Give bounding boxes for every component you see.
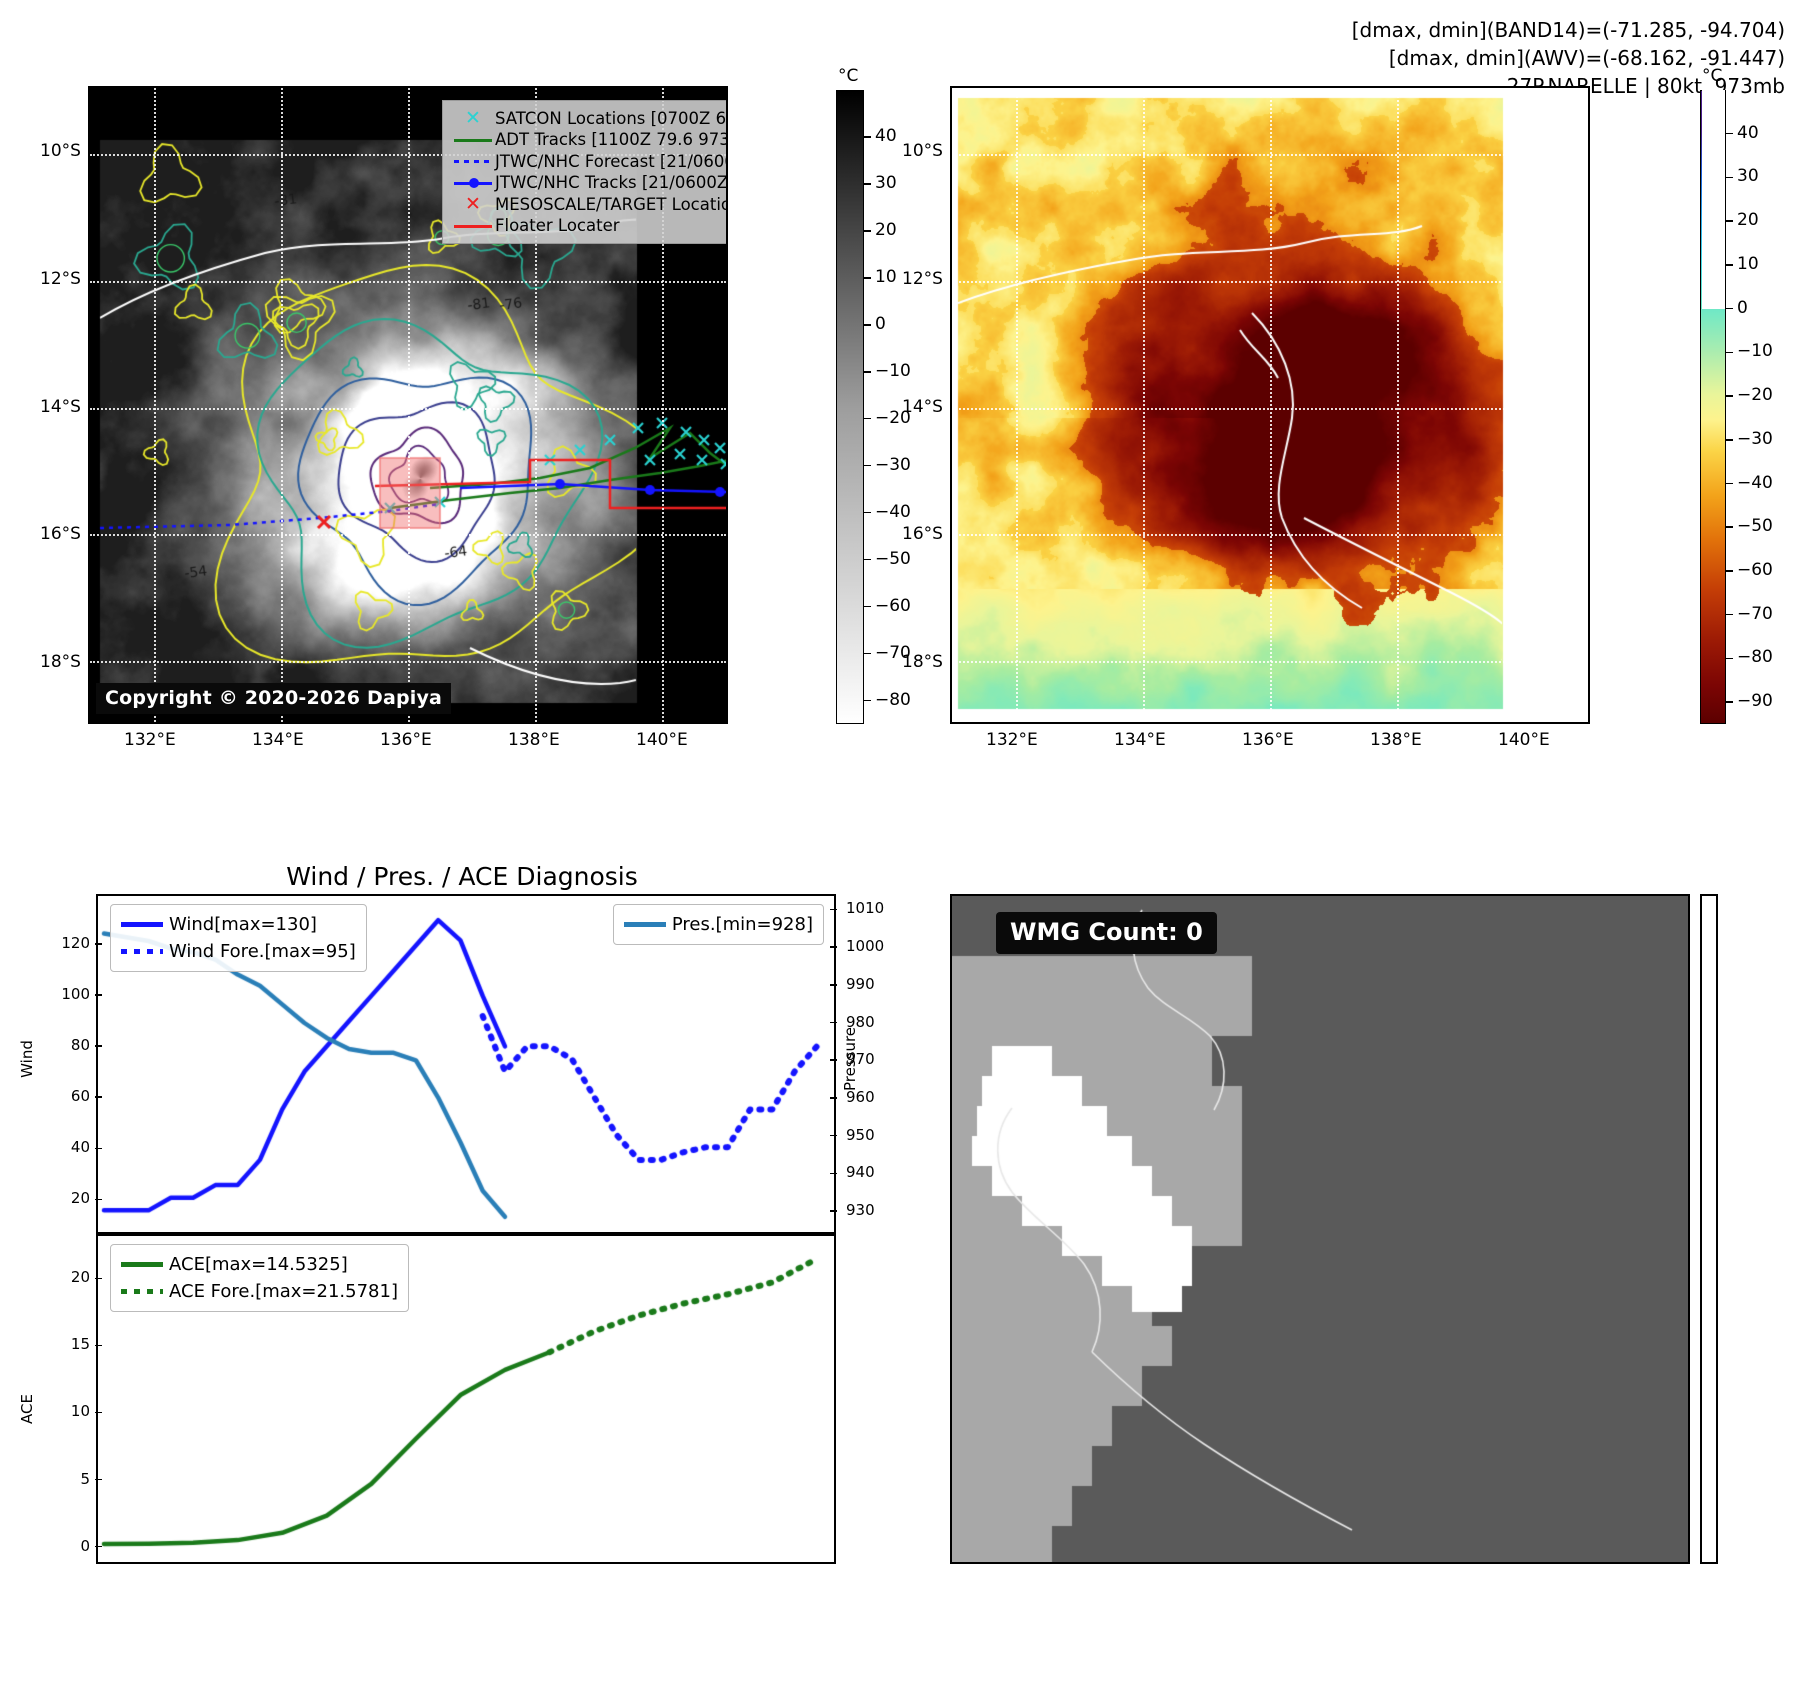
gridline-vertical — [1143, 88, 1145, 722]
enhanced-ir-color-panel[interactable] — [950, 86, 1590, 724]
gridline-vertical — [1397, 88, 1399, 722]
wmg-canvas — [952, 896, 1688, 1562]
dotted-line-icon — [121, 949, 169, 954]
colorbar-tick-label: −60 — [1737, 560, 1773, 580]
colorbar-tick-label: 20 — [875, 220, 897, 240]
chart-axis-tick-label: 5 — [50, 1470, 90, 1488]
chart-legend-row: Wind[max=130] — [121, 911, 356, 938]
axis-tick-label: 132°E — [124, 730, 176, 750]
chart-axis-tickmark — [95, 1199, 102, 1201]
chart-axis-tick-label: 60 — [50, 1087, 90, 1105]
dmax-band14-text: [dmax, dmin](BAND14)=(-71.285, -94.704) — [1352, 16, 1785, 44]
solid-line-icon — [121, 1262, 169, 1267]
ace-chart[interactable]: ACE[max=14.5325]ACE Fore.[max=21.5781] — [96, 1234, 836, 1564]
gridline-horizontal — [952, 661, 1588, 663]
solid-line-icon — [451, 130, 495, 152]
chart-axis-tickmark — [95, 994, 102, 996]
ir-legend-label: JTWC/NHC Forecast [21/0600Z] — [495, 154, 728, 171]
solid-line-icon — [121, 922, 169, 927]
colorbar-tick-label: −90 — [1737, 691, 1773, 711]
ir-legend: ✕SATCON Locations [0700Z 60 982]ADT Trac… — [442, 100, 728, 244]
x-marker-icon: ✕ — [451, 194, 495, 216]
gridline-vertical — [408, 88, 410, 722]
dotted-line-icon — [121, 1289, 169, 1294]
ir-legend-row: Floater Locater — [451, 216, 719, 238]
colorbar-tick-label: −10 — [875, 361, 911, 381]
colorbar-tickmark — [864, 277, 871, 279]
gridline-vertical — [1524, 88, 1526, 722]
axis-tick-label: 18°S — [40, 652, 81, 672]
ir-legend-row: ✕MESOSCALE/TARGET Location — [451, 194, 719, 216]
chart-axis-tickmark — [95, 1345, 102, 1347]
colorbar-tickmark — [864, 324, 871, 326]
colorbar-tick-label: −50 — [1737, 516, 1773, 536]
chart-axis-tick-label: 100 — [50, 985, 90, 1003]
colorbar-tickmark — [1726, 439, 1733, 441]
chart-legend-row: Wind Fore.[max=95] — [121, 938, 356, 965]
chart-axis-tickmark — [95, 943, 102, 945]
chart-axis-tickmark — [830, 984, 837, 986]
diagnosis-title: Wind / Pres. / ACE Diagnosis — [88, 862, 836, 891]
chart-axis-tickmark — [830, 1097, 837, 1099]
chart-axis-tick-label: 10 — [50, 1402, 90, 1420]
colorbar-tick-label: 10 — [1737, 254, 1759, 274]
colorbar-tick-label: 30 — [875, 173, 897, 193]
axis-tick-label: 134°E — [1114, 730, 1166, 750]
gridline-horizontal — [90, 281, 726, 283]
axis-tick-label: 10°S — [40, 141, 81, 161]
colorbar-tickmark — [1726, 177, 1733, 179]
chart-legend-label: ACE[max=14.5325] — [169, 1256, 348, 1274]
gridline-vertical — [154, 88, 156, 722]
chart-legend-row: ACE Fore.[max=21.5781] — [121, 1278, 398, 1305]
copyright-badge: Copyright © 2020-2026 Dapiya — [96, 683, 451, 714]
colorbar-tick-label: −80 — [875, 690, 911, 710]
solid-line-icon — [624, 922, 672, 927]
gridline-horizontal — [952, 281, 1588, 283]
axis-tick-label: 140°E — [636, 730, 688, 750]
chart-axis-tick-label: 120 — [50, 934, 90, 952]
chart-axis-tick-label: 80 — [50, 1036, 90, 1054]
ace-chart-legend: ACE[max=14.5325]ACE Fore.[max=21.5781] — [110, 1244, 409, 1312]
axis-tick-label: 136°E — [1242, 730, 1294, 750]
ir-colorbar-gradient — [836, 90, 864, 724]
ir-legend-row: ✕SATCON Locations [0700Z 60 982] — [451, 108, 719, 130]
colorbar-tickmark — [864, 371, 871, 373]
wv-colorbar-unit: °C — [1702, 66, 1722, 86]
chart-axis-tickmark — [95, 1045, 102, 1047]
colorbar-tick-label: 0 — [875, 314, 886, 334]
x-marker-icon: ✕ — [451, 108, 495, 130]
chart-axis-tickmark — [830, 1173, 837, 1175]
colorbar-tickmark — [864, 700, 871, 702]
colorbar-tick-label: 20 — [1737, 210, 1759, 230]
ir-legend-label: MESOSCALE/TARGET Location — [495, 197, 728, 214]
chart-axis-tick-label: 940 — [846, 1163, 875, 1181]
colorbar-tickmark — [864, 512, 871, 514]
colorbar-tickmark — [1726, 483, 1733, 485]
chart-axis-tick-label: 1010 — [846, 899, 884, 917]
wv-colorbar-white-segment — [1702, 90, 1725, 309]
colorbar-tick-label: 0 — [1737, 298, 1748, 318]
colorbar-tickmark — [864, 465, 871, 467]
gridline-vertical — [281, 88, 283, 722]
colorbar-tickmark — [1726, 308, 1733, 310]
colorbar-tick-label: −70 — [1737, 604, 1773, 624]
wind-axis-label: Wind — [18, 1040, 36, 1078]
colorbar-tick-label: −60 — [875, 596, 911, 616]
chart-axis-tickmark — [830, 1022, 837, 1024]
colorbar-tick-label: 40 — [1737, 123, 1759, 143]
chart-legend-label: Wind Fore.[max=95] — [169, 943, 356, 961]
wmg-colorbar — [1700, 894, 1718, 1564]
chart-legend-label: Pres.[min=928] — [672, 916, 813, 934]
colorbar-tick-label: −40 — [1737, 473, 1773, 493]
solid-line-icon — [451, 216, 495, 238]
axis-tick-label: 14°S — [902, 397, 943, 417]
colorbar-tickmark — [864, 559, 871, 561]
gridline-horizontal — [90, 408, 726, 410]
chart-axis-tickmark — [830, 1135, 837, 1137]
ir-legend-label: Floater Locater — [495, 218, 620, 235]
colorbar-tickmark — [1726, 526, 1733, 528]
chart-legend-row: Pres.[min=928] — [624, 911, 813, 938]
wv-colorbar: °C 403020100−10−20−30−40−50−60−70−80−90 — [1700, 66, 1797, 726]
axis-tick-label: 18°S — [902, 652, 943, 672]
wmg-mask-panel[interactable]: WMG Count: 0 — [950, 894, 1690, 1564]
colorbar-tick-label: 10 — [875, 267, 897, 287]
colorbar-tickmark — [1726, 570, 1733, 572]
pressure-chart-legend: Pres.[min=928] — [613, 904, 824, 945]
chart-axis-tickmark — [830, 909, 837, 911]
chart-axis-tickmark — [95, 1546, 102, 1548]
chart-axis-tick-label: 20 — [50, 1189, 90, 1207]
chart-legend-label: Wind[max=130] — [169, 916, 317, 934]
colorbar-tickmark — [1726, 352, 1733, 354]
chart-axis-tick-label: 40 — [50, 1138, 90, 1156]
axis-tick-label: 16°S — [902, 524, 943, 544]
chart-axis-tickmark — [830, 1210, 837, 1212]
colorbar-tickmark — [1726, 264, 1733, 266]
colorbar-tick-label: −30 — [875, 455, 911, 475]
colorbar-tickmark — [864, 606, 871, 608]
ir-legend-row: JTWC/NHC Tracks [21/0600Z] — [451, 173, 719, 195]
axis-tick-label: 138°E — [1370, 730, 1422, 750]
colorbar-tickmark — [864, 653, 871, 655]
axis-tick-label: 138°E — [508, 730, 560, 750]
colorbar-tick-label: −30 — [1737, 429, 1773, 449]
axis-tick-label: 12°S — [902, 269, 943, 289]
dotted-line-icon — [451, 151, 495, 173]
chart-axis-tick-label: 990 — [846, 975, 875, 993]
colorbar-tickmark — [864, 136, 871, 138]
chart-axis-tickmark — [95, 1412, 102, 1414]
axis-tick-label: 136°E — [380, 730, 432, 750]
ir-legend-label: JTWC/NHC Tracks [21/0600Z] — [495, 175, 728, 192]
colorbar-tick-label: −80 — [1737, 647, 1773, 667]
colorbar-tickmark — [864, 230, 871, 232]
axis-tick-label: 134°E — [252, 730, 304, 750]
chart-axis-tick-label: 20 — [50, 1268, 90, 1286]
colorbar-tickmark — [1726, 701, 1733, 703]
gridline-vertical — [1270, 88, 1272, 722]
chart-axis-tickmark — [95, 1278, 102, 1280]
ir-legend-label: ADT Tracks [1100Z 79.6 973.7] — [495, 132, 728, 149]
colorbar-tick-label: 40 — [875, 126, 897, 146]
colorbar-tick-label: −10 — [1737, 341, 1773, 361]
wind-chart-legend: Wind[max=130]Wind Fore.[max=95] — [110, 904, 367, 972]
ir-legend-row: ADT Tracks [1100Z 79.6 973.7] — [451, 130, 719, 152]
colorbar-tick-label: 30 — [1737, 166, 1759, 186]
ir-colorbar-unit: °C — [838, 66, 858, 86]
ir-legend-row: JTWC/NHC Forecast [21/0600Z] — [451, 151, 719, 173]
gridline-horizontal — [90, 661, 726, 663]
colorbar-tickmark — [1726, 133, 1733, 135]
axis-tick-label: 14°S — [40, 397, 81, 417]
chart-axis-tickmark — [830, 1059, 837, 1061]
line-with-marker-icon — [451, 173, 495, 195]
wind-pressure-chart[interactable]: Wind[max=130]Wind Fore.[max=95] Pres.[mi… — [96, 894, 836, 1234]
chart-axis-tick-label: 1000 — [846, 937, 884, 955]
gridline-horizontal — [952, 534, 1588, 536]
chart-axis-tickmark — [95, 1479, 102, 1481]
axis-tick-label: 132°E — [986, 730, 1038, 750]
axis-tick-label: 140°E — [1498, 730, 1550, 750]
colorbar-tickmark — [1726, 614, 1733, 616]
axis-tick-label: 12°S — [40, 269, 81, 289]
chart-axis-tick-label: 930 — [846, 1201, 875, 1219]
colorbar-tickmark — [1726, 220, 1733, 222]
chart-axis-tickmark — [95, 1148, 102, 1150]
colorbar-tickmark — [1726, 658, 1733, 660]
chart-legend-row: ACE[max=14.5325] — [121, 1251, 398, 1278]
colorbar-tick-label: −20 — [1737, 385, 1773, 405]
chart-axis-tickmark — [95, 1096, 102, 1098]
gridline-vertical — [1016, 88, 1018, 722]
chart-legend-label: ACE Fore.[max=21.5781] — [169, 1283, 398, 1301]
colorbar-tickmark — [864, 418, 871, 420]
chart-axis-tickmark — [830, 946, 837, 948]
ir-legend-label: SATCON Locations [0700Z 60 982] — [495, 111, 728, 128]
axis-tick-label: 10°S — [902, 141, 943, 161]
chart-axis-tick-label: 0 — [50, 1537, 90, 1555]
chart-axis-tick-label: 15 — [50, 1335, 90, 1353]
gridline-horizontal — [952, 408, 1588, 410]
axis-tick-label: 16°S — [40, 524, 81, 544]
colorbar-tick-label: −40 — [875, 502, 911, 522]
ir-target-area-panel[interactable]: ✕SATCON Locations [0700Z 60 982]ADT Trac… — [88, 86, 728, 724]
gridline-horizontal — [90, 534, 726, 536]
wmg-count-badge: WMG Count: 0 — [996, 912, 1217, 954]
ace-axis-label: ACE — [18, 1394, 36, 1424]
colorbar-tickmark — [864, 183, 871, 185]
chart-axis-tick-label: 950 — [846, 1126, 875, 1144]
pressure-axis-label: Pressure — [841, 1027, 859, 1091]
colorbar-tick-label: −50 — [875, 549, 911, 569]
gridline-horizontal — [952, 154, 1588, 156]
colorbar-tickmark — [1726, 395, 1733, 397]
